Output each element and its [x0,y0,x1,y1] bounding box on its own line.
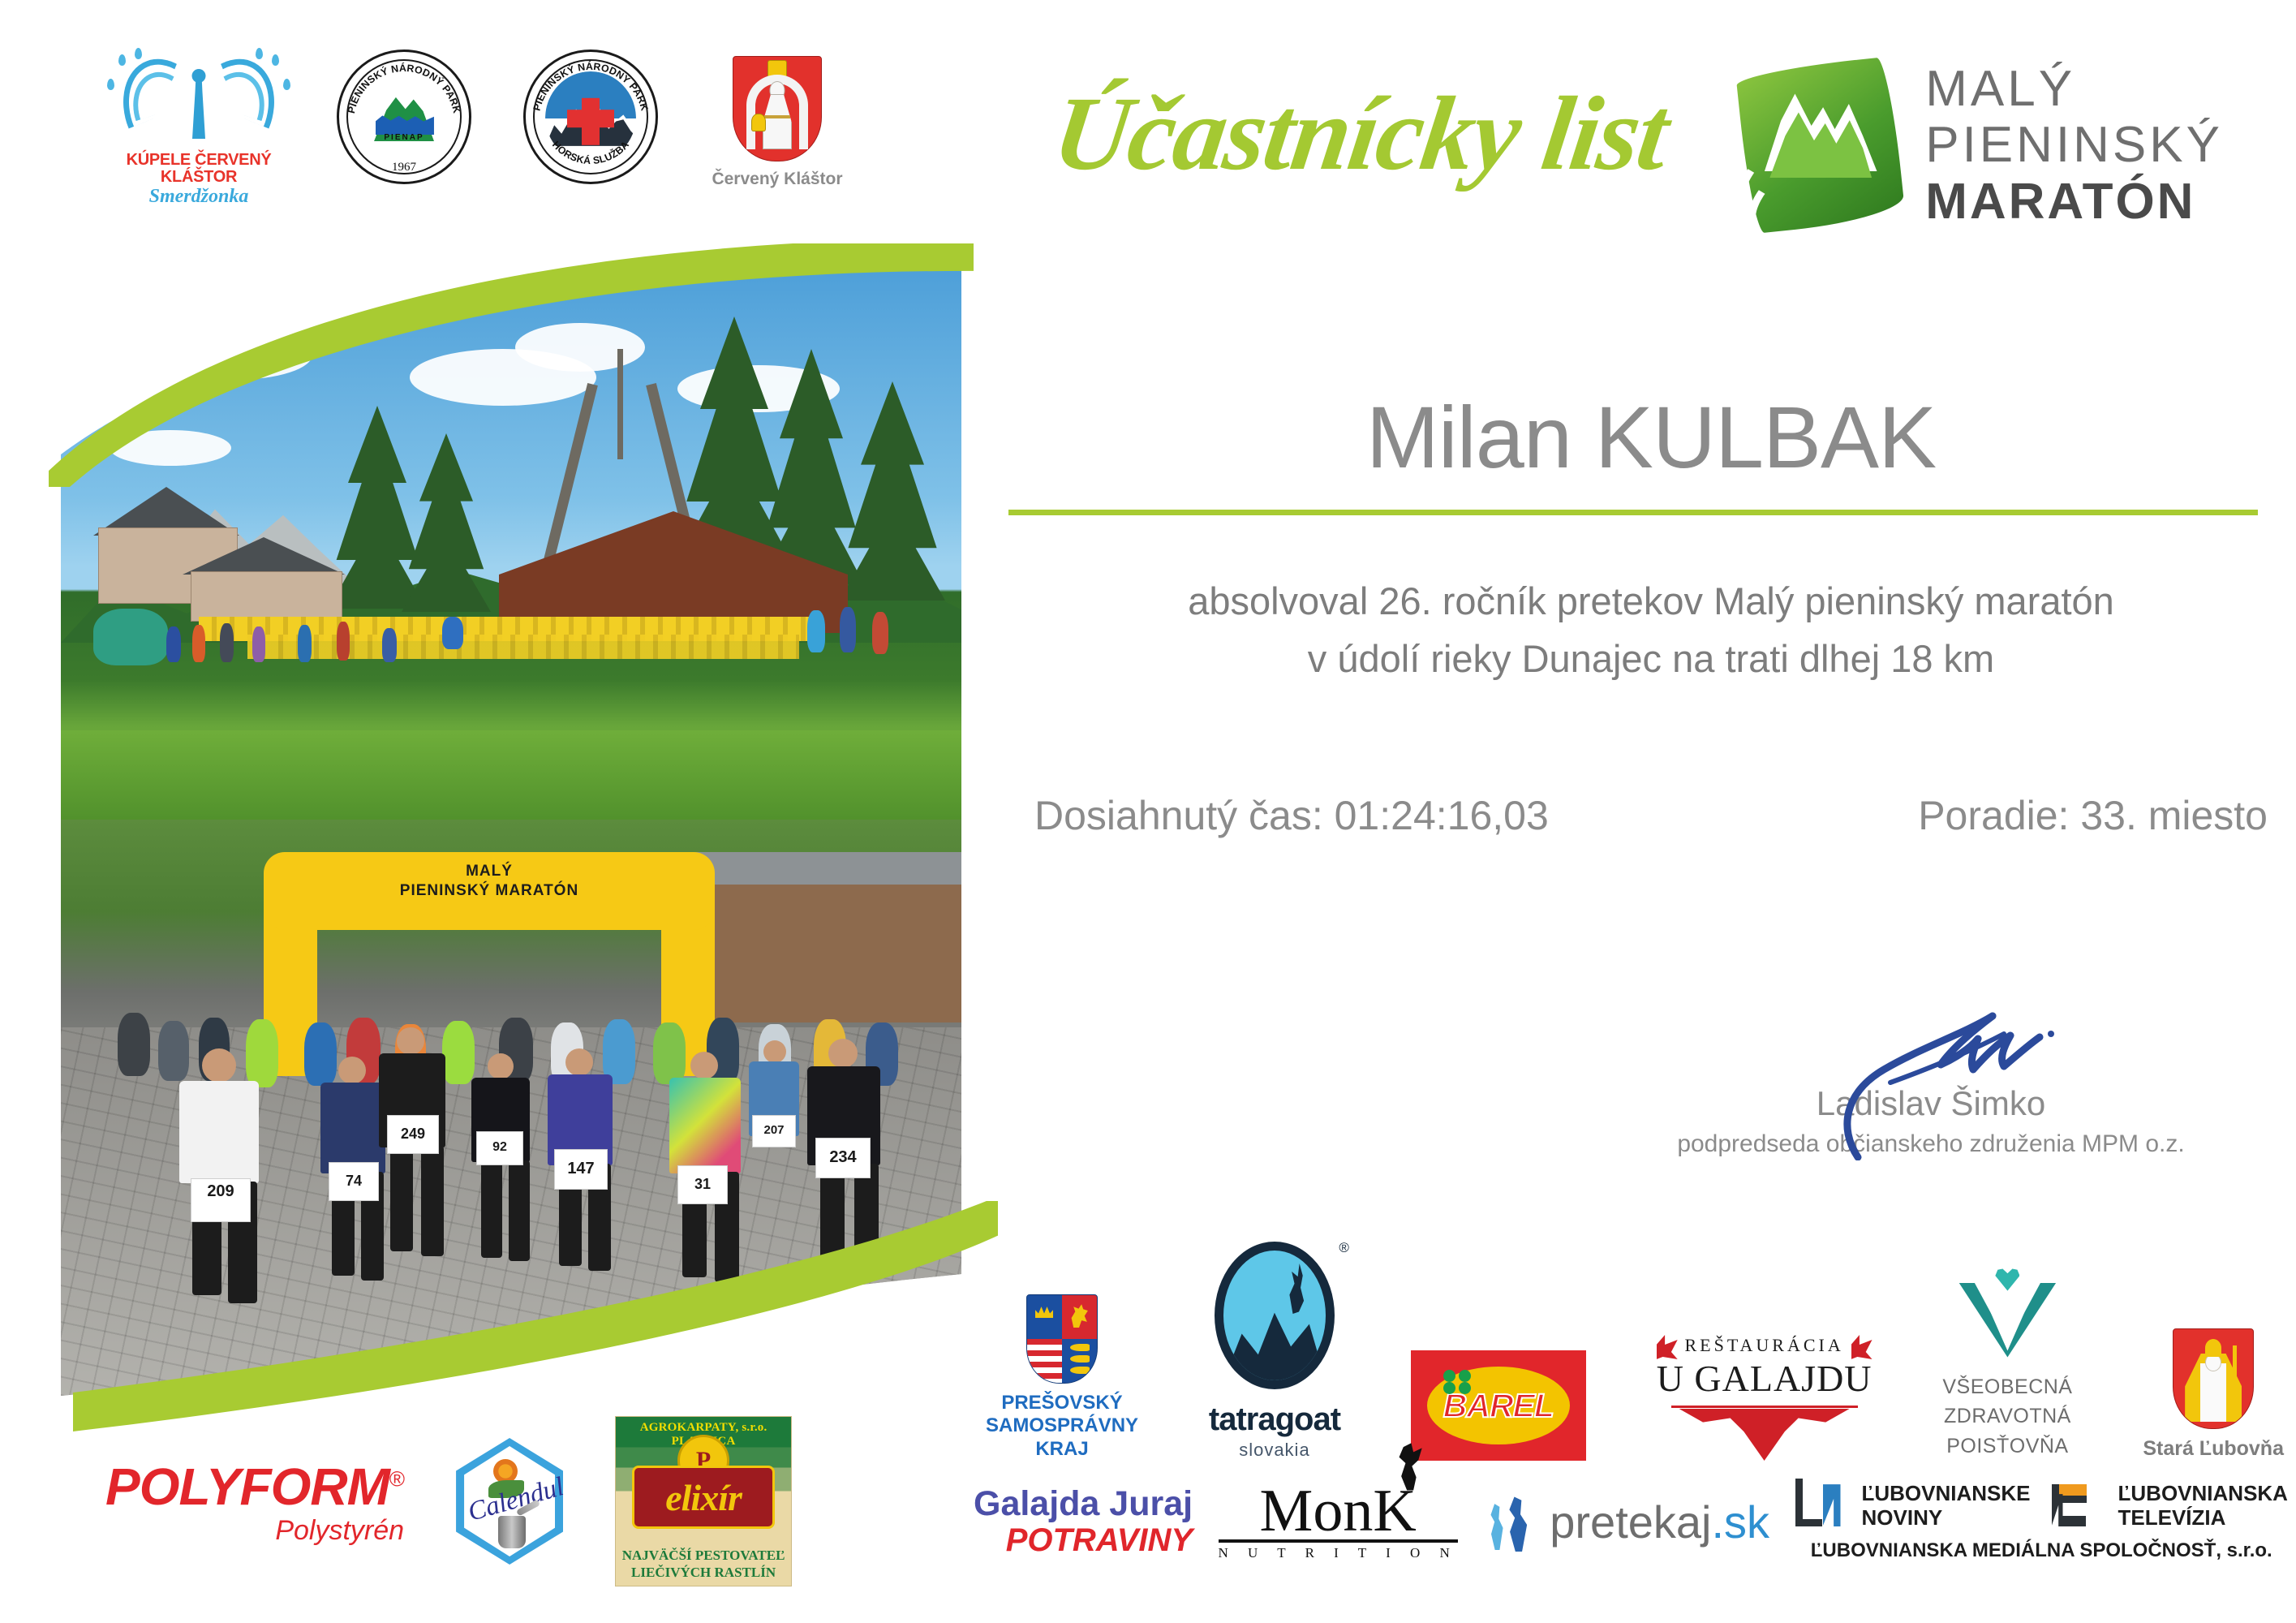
bib-number: 209 [191,1178,251,1222]
sponsor-tatragoat-name: tatragoat [1209,1401,1340,1437]
angel-water-icon [97,45,300,150]
sponsor-galajdu-line1: REŠTAURÁCIA [1679,1335,1850,1356]
participant-name: Milan KULBAK [1006,390,2296,486]
bishop-coat-of-arms-icon [2173,1328,2254,1429]
sponsor-galajdu-line2: U GALAJDU [1657,1357,1872,1400]
sponsor-pretekaj-tld: .sk [1712,1496,1770,1548]
goat-mountain-icon [1215,1242,1335,1389]
sponsor-psk-line1: PREŠOVSKÝ [986,1392,1138,1414]
signature-mark [1623,998,2239,1112]
achievement-line2: v údolí rieky Dunajec na trati dlhej 18 … [1006,630,2296,687]
sponsor-elixir-foot1: NAJVÄČŠÍ PESTOVATEĽ [616,1547,791,1564]
name-divider [1008,510,2258,515]
folk-ornament-icon [1679,1409,1850,1461]
sponsor-stara-lubovna-name: Stará Ľubovňa [2143,1437,2284,1461]
logo-cerveny-klastor: Červený Kláštor [696,45,858,189]
ln-logo-icon [1795,1484,1841,1526]
sponsor-row-bottom-left: POLYFORM® Polystyrén Calendula AGROKARPA… [105,1416,792,1586]
bib-number: 92 [476,1131,523,1165]
sponsor-polyform-sub: Polystyrén [105,1515,404,1547]
sponsor-vszp-line2: ZDRAVOTNÁ [1942,1401,2072,1431]
national-park-seal-icon: PIENINSKÝ NÁRODNÝ PARK PIENAP 1967 [337,50,471,184]
event-logo-line2: PIENINSKÝ [1925,117,2223,173]
sponsor-ln-line1: ĽUBOVNIANSKE [1862,1481,2031,1505]
bib-number: 147 [554,1149,608,1190]
sponsor-elixir-foot2: LIEČIVÝCH RASTLÍN [616,1564,791,1581]
sponsor-vszp-line1: VŠEOBECNÁ [1942,1372,2072,1402]
event-logo-line3: MARATÓN [1925,174,2223,230]
sponsor-monk-sub: N U T R I T I O N [1219,1545,1458,1561]
sponsor-u-galajdu: REŠTAURÁCIA U GALAJDU [1657,1335,1872,1461]
sponsor-ltv-line1: ĽUBOVNIANSKA [2118,1481,2288,1505]
sponsor-ln-line2: NOVINY [1862,1505,2031,1530]
sponsor-agrokarpaty-elixir: AGROKARPATY, s.r.o. PLAVNICA P elixír NA… [615,1416,792,1586]
logo-cerveny-klastor-caption: Červený Kláštor [696,170,858,189]
runner-figure: 207 [741,1040,814,1251]
clover-icon [1443,1370,1471,1394]
v-heart-icon [1958,1268,2056,1363]
bib-number: 31 [677,1165,728,1204]
sponsor-galajda-juraj: Galajda Juraj POTRAVINY [974,1484,1193,1559]
event-logo: MALÝ PIENINSKÝ MARATÓN [1743,61,2223,230]
sponsor-galajda-line2: POTRAVINY [974,1522,1193,1559]
regional-coat-of-arms-icon [1026,1294,1098,1384]
svg-text:PIENINSKÝ NÁRODNÝ PARK: PIENINSKÝ NÁRODNÝ PARK [531,60,651,112]
registered-mark: ® [1339,1240,1349,1256]
sponsor-psk-line2: SAMOSPRÁVNY [986,1414,1138,1437]
achievement-line1: absolvoval 26. ročník pretekov Malý pien… [1006,572,2296,630]
achievement-text: absolvoval 26. ročník pretekov Malý pien… [1006,572,2296,688]
pienap-mountain-icon: PIENAP [370,88,438,141]
placement: Poradie: 33. miesto [1918,791,2268,840]
start-photo: MALÝ PIENINSKÝ MARATÓN [61,820,961,1396]
pienap-ring-text: PIENINSKÝ NÁRODNÝ PARK [339,52,469,182]
sponsor-stara-lubovna: Stará Ľubovňa [2143,1328,2284,1461]
sponsor-monk-nutrition: MonK N U T R I T I O N [1219,1483,1458,1561]
sponsor-lubovnianska-media: ĽUBOVNIANSKE NOVINY ĽUBOVNIANSKA TELEVÍZ… [1795,1481,2288,1562]
arch-caption: MALÝ PIENINSKÝ MARATÓN [304,862,674,901]
horska-ring-text: PIENINSKÝ NÁRODNÝ PARK HORSKÁ SLUŽBA [526,52,656,182]
coat-of-arms-icon [733,56,822,161]
mountain-rescue-seal-icon: PIENINSKÝ NÁRODNÝ PARK HORSKÁ SLUŽBA [523,50,658,184]
mortar-pestle-icon: Calendula [456,1438,563,1565]
signature-block: Ladislav Šimko podpredseda občianskeho z… [1623,998,2239,1159]
photo-collage: MALÝ PIENINSKÝ MARATÓN [61,260,961,1396]
sponsor-monk-name: MonK [1219,1483,1458,1539]
sponsor-pretekaj-name: pretekaj [1550,1496,1711,1548]
sponsor-barel: BAREL [1411,1350,1586,1461]
pienap-center-text: PIENAP [384,133,424,142]
sponsor-elixir-name: elixír [665,1476,742,1519]
sponsor-vszp: VŠEOBECNÁ ZDRAVOTNÁ POISŤOVŇA [1942,1268,2072,1462]
event-logo-line1: MALÝ [1925,61,2223,117]
sponsor-presovsky-kraj: PREŠOVSKÝ SAMOSPRÁVNY KRAJ [986,1294,1138,1461]
registered-mark: ® [389,1466,404,1491]
logo-pienap: PIENINSKÝ NÁRODNÝ PARK PIENAP 1967 [315,45,493,184]
bib-number: 249 [387,1115,439,1154]
sponsor-polyform: POLYFORM® Polystyrén [105,1457,404,1547]
svg-text:HORSKÁ SLUŽBA: HORSKÁ SLUŽBA [550,139,631,166]
sponsor-vszp-line3: POISŤOVŇA [1942,1431,2072,1462]
logo-kupele-line2: Smerdžonka [97,186,300,207]
sponsor-pretekaj-sk: pretekaj.sk [1483,1490,1769,1553]
sponsor-tatragoat-sub: slovakia [1209,1440,1340,1461]
bib-number: 207 [752,1115,796,1147]
runner-figure: 147 [533,1048,630,1300]
logo-kupele-cerveny-klastor: KÚPELE ČERVENÝ KLÁŠTOR Smerdžonka [97,45,300,207]
sponsor-row-primary: PREŠOVSKÝ SAMOSPRÁVNY KRAJ ® tatragoat s… [986,1242,2284,1461]
venue-photo [61,260,961,828]
sponsor-row-secondary: Galajda Juraj POTRAVINY MonK N U T R I T… [974,1481,2288,1562]
logo-horska-sluzba: PIENINSKÝ NÁRODNÝ PARK HORSKÁ SLUŽBA [501,45,680,184]
sponsor-polyform-name: POLYFORM [105,1457,389,1516]
sponsor-psk-line3: KRAJ [986,1438,1138,1461]
pienap-year: 1967 [392,161,416,174]
runner-figure: 209 [158,1048,280,1316]
two-runners-icon [1483,1490,1541,1553]
logo-kupele-line1: KÚPELE ČERVENÝ KLÁŠTOR [97,152,300,186]
finish-time: Dosiahnutý čas: 01:24:16,03 [1034,791,1549,840]
page-title: Účastnícky list [1047,81,1674,187]
sponsor-galajda-line1: Galajda Juraj [974,1484,1193,1524]
sponsor-calendula: Calendula [456,1438,563,1565]
sponsor-tatragoat: ® tatragoat slovakia [1209,1242,1340,1461]
sponsor-media-footer: ĽUBOVNIANSKA MEDIÁLNA SPOLOČNOSŤ, s.r.o. [1795,1539,2288,1562]
leaf-mountain-icon [1743,64,1898,226]
sponsor-ltv-line2: TELEVÍZIA [2118,1505,2288,1530]
runner-figure: 249 [363,1027,460,1287]
ltv-logo-icon [2052,1484,2097,1526]
rescue-scene [545,71,636,162]
result-row: Dosiahnutý čas: 01:24:16,03 Poradie: 33.… [1014,791,2288,840]
bib-number: 234 [815,1138,871,1178]
svg-text:PIENINSKÝ NÁRODNÝ PARK: PIENINSKÝ NÁRODNÝ PARK [346,62,462,114]
partner-logo-bar: KÚPELE ČERVENÝ KLÁŠTOR Smerdžonka PIENIN… [97,45,957,219]
